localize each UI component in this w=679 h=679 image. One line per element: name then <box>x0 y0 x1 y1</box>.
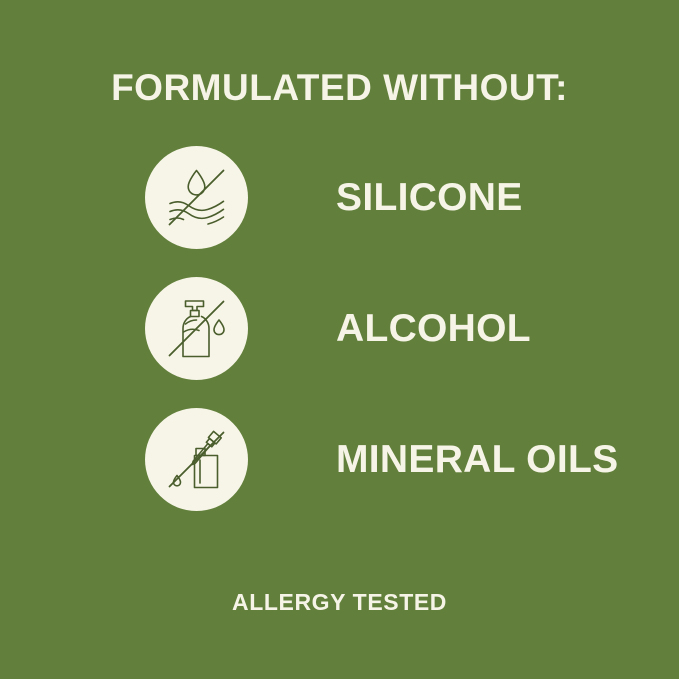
list-item: SILICONE <box>0 146 679 249</box>
list-item: ALCOHOL <box>0 277 679 380</box>
allergy-tested-note: ALLERGY TESTED <box>0 589 679 616</box>
list-item-label: SILICONE <box>336 146 523 249</box>
list-item: MINERAL OILS <box>0 408 679 511</box>
page-title: FORMULATED WITHOUT: <box>0 68 679 109</box>
no-silicone-droplet-waves-icon <box>145 146 248 249</box>
excluded-ingredients-list: SILICONE <box>0 146 679 539</box>
no-alcohol-pump-bottle-icon <box>145 277 248 380</box>
list-item-label: ALCOHOL <box>336 277 531 380</box>
list-item-label: MINERAL OILS <box>336 408 618 511</box>
formulated-without-poster: FORMULATED WITHOUT: SILICONE <box>0 0 679 679</box>
no-mineral-oils-dropper-bottle-icon <box>145 408 248 511</box>
